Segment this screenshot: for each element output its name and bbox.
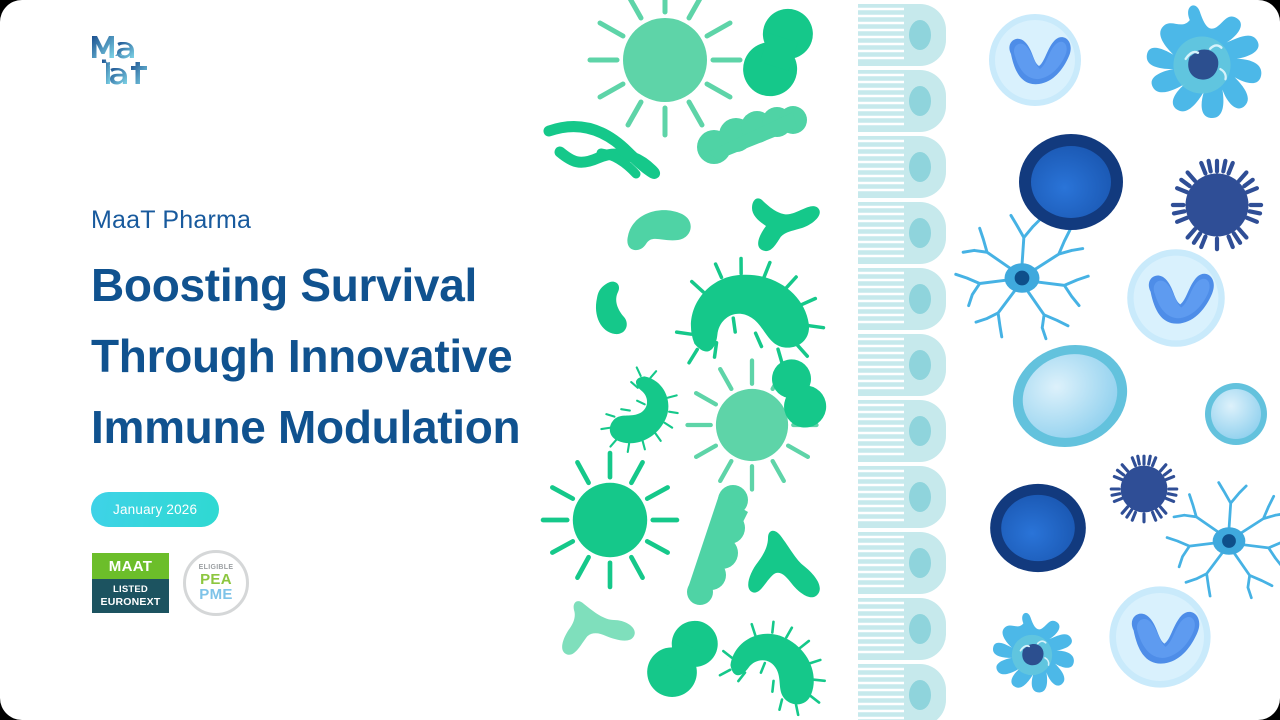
euronext-maat-label: MAAT <box>109 558 152 575</box>
title-line-3: Immune Modulation <box>91 392 651 463</box>
epithelial-cells <box>858 4 946 720</box>
immune-cell-dendritic-2 <box>993 613 1074 693</box>
bacterium-hairy-bacillus <box>668 248 828 376</box>
immune-cell-neutrophil <box>989 14 1081 106</box>
pea-pme-badge: ELIGIBLE PEA PME <box>183 550 249 616</box>
pme-label: PME <box>199 587 232 602</box>
immune-cell-neuron-dendritic-2 <box>1167 483 1280 598</box>
bacterium-spiky-coccus-2 <box>688 361 817 490</box>
title-line-1: Boosting Survival <box>91 250 651 321</box>
bacterium-comma-vibrio <box>627 210 690 250</box>
bacterium-y-shaped <box>752 198 820 251</box>
bacterium-spiky-coccus-3 <box>543 453 677 587</box>
bacterium-diplococcus-2 <box>759 352 837 436</box>
bacterium-spirochete-tail <box>601 153 636 174</box>
certification-badges: MAAT LISTED EURONEXT ELIGIBLE PEA PME <box>92 550 249 616</box>
immune-cell-neutrophil-2 <box>1127 249 1225 347</box>
bacterium-streptococcus-chain-2 <box>687 485 748 605</box>
bacterium-spiky-coccus <box>590 0 740 135</box>
euronext-badge-body: LISTED EURONEXT <box>92 579 169 613</box>
euronext-listed-label: LISTED <box>113 584 148 595</box>
bacterium-y-shaped-pale <box>562 601 635 655</box>
bacterium-streptococcus-chain <box>697 106 807 164</box>
euronext-exchange-label: EURONEXT <box>101 596 161 608</box>
bacterium-hairy-bacillus-2 <box>711 607 841 720</box>
maat-logo[interactable] <box>90 32 154 88</box>
slide-title: Boosting Survival Through Innovative Imm… <box>91 250 651 463</box>
immune-cell-neutrophil-3 <box>1109 586 1210 687</box>
euronext-badge-name: MAAT <box>92 553 169 579</box>
brand-eyebrow: MaaT Pharma <box>91 206 251 235</box>
euronext-listing-badge: MAAT LISTED EURONEXT <box>92 553 169 613</box>
immune-cell-dendritic <box>1147 5 1262 118</box>
immune-cell-lymphocyte <box>998 329 1141 463</box>
bacterium-diplococcus <box>736 0 819 104</box>
pea-eligible-label: ELIGIBLE <box>199 564 234 571</box>
title-line-2: Through Innovative <box>91 321 651 392</box>
bacterium-spirochete <box>549 127 655 174</box>
logo-mark <box>92 36 147 85</box>
bacterium-y-shaped-2 <box>748 531 820 598</box>
date-badge: January 2026 <box>91 492 219 527</box>
immune-cell-erythrocyte <box>1019 134 1123 230</box>
virus-particle-2 <box>1111 456 1177 522</box>
immune-cell-lymphocyte-2 <box>1205 383 1267 445</box>
bacterium-diplococcus-3 <box>638 609 726 708</box>
immune-cell-erythrocyte-2 <box>990 484 1086 572</box>
presentation-slide: MaaT Pharma Boosting Survival Through In… <box>0 0 1280 720</box>
virus-particle <box>1173 161 1261 249</box>
immune-cell-neuron-dendritic <box>956 215 1088 338</box>
pea-label: PEA <box>200 572 232 587</box>
